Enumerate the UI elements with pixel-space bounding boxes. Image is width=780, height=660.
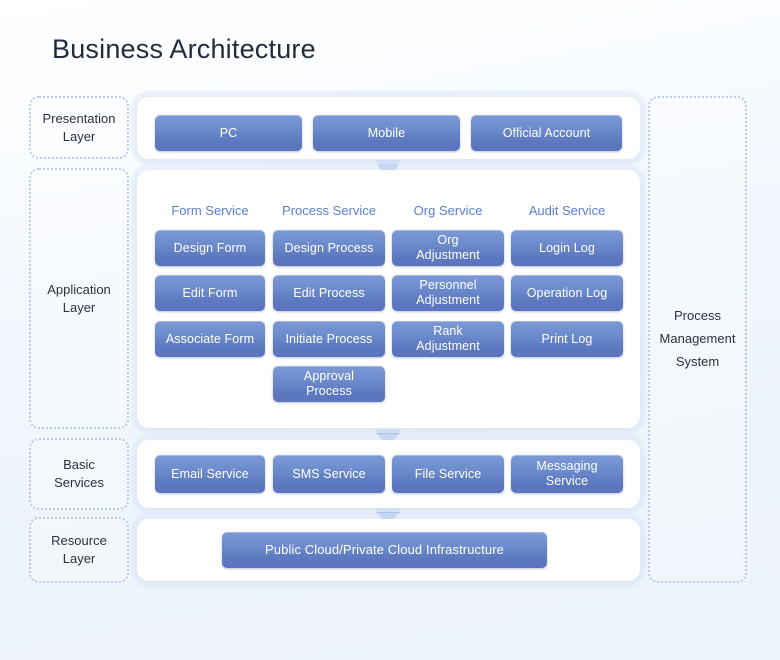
layer-label-text: Presentation Layer [37,110,121,145]
app-item-associate-form[interactable]: Associate Form [155,321,265,357]
presentation-item-official-account[interactable]: Official Account [471,115,622,151]
layer-label-basic-services: Basic Services [29,438,129,510]
process-management-system-panel: Process Management System [648,96,747,583]
app-item-initiate-process[interactable]: Initiate Process [273,321,385,357]
basic-item-file-service[interactable]: File Service [392,455,504,493]
resource-item-cloud-infrastructure[interactable]: Public Cloud/Private Cloud Infrastructur… [222,532,547,568]
layer-label-presentation: Presentation Layer [29,96,129,159]
app-item-edit-form[interactable]: Edit Form [155,275,265,311]
app-item-personnel-adjustment[interactable]: Personnel Adjustment [392,275,504,311]
layer-label-text: Resource Layer [37,532,121,567]
app-item-login-log[interactable]: Login Log [511,230,623,266]
layer-label-text: Application Layer [37,281,121,316]
app-item-design-process[interactable]: Design Process [273,230,385,266]
column-header-audit-service: Audit Service [511,203,623,218]
layer-label-application: Application Layer [29,168,129,429]
app-item-rank-adjustment[interactable]: Rank Adjustment [392,321,504,357]
basic-item-messaging-service[interactable]: Messaging Service [511,455,623,493]
layer-label-text: Basic Services [37,456,121,491]
column-header-process-service: Process Service [273,203,385,218]
app-item-edit-process[interactable]: Edit Process [273,275,385,311]
presentation-item-mobile[interactable]: Mobile [313,115,460,151]
app-item-operation-log[interactable]: Operation Log [511,275,623,311]
app-item-org-adjustment[interactable]: Org Adjustment [392,230,504,266]
architecture-diagram: Presentation Layer Application Layer Bas… [0,0,780,660]
presentation-item-pc[interactable]: PC [155,115,302,151]
basic-item-sms-service[interactable]: SMS Service [273,455,385,493]
column-header-form-service: Form Service [155,203,265,218]
column-header-org-service: Org Service [392,203,504,218]
app-item-design-form[interactable]: Design Form [155,230,265,266]
app-item-print-log[interactable]: Print Log [511,321,623,357]
app-item-approval-process[interactable]: Approval Process [273,366,385,402]
basic-item-email-service[interactable]: Email Service [155,455,265,493]
layer-label-resource: Resource Layer [29,517,129,583]
process-management-system-label: Process Management System [656,305,739,373]
